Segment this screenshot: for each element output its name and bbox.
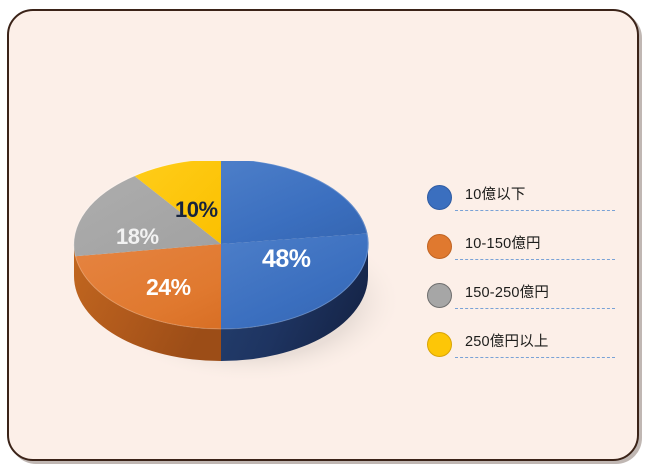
chart-legend: 10億以下 10-150億円 150-250億円 250億円以上: [427, 179, 617, 375]
chart-card: 48% 24% 18% 10% 10億以下 10-150億円 150-250億円: [7, 9, 639, 461]
chart-canvas: 48% 24% 18% 10% 10億以下 10-150億円 150-250億円: [0, 0, 650, 473]
pie-label-24: 24%: [146, 274, 191, 301]
legend-label-3: 250億円以上: [465, 330, 549, 351]
legend-item-1[interactable]: 10-150億円: [427, 228, 617, 277]
legend-label-1: 10-150億円: [465, 232, 541, 253]
legend-swatch-icon-2: [427, 283, 452, 308]
legend-rule-3: [455, 357, 615, 358]
legend-item-3[interactable]: 250億円以上: [427, 326, 617, 375]
legend-item-0[interactable]: 10億以下: [427, 179, 617, 228]
legend-item-2[interactable]: 150-250億円: [427, 277, 617, 326]
legend-rule-1: [455, 259, 615, 260]
legend-label-2: 150-250億円: [465, 281, 549, 302]
pie-label-10: 10%: [175, 197, 218, 223]
legend-label-0: 10億以下: [465, 183, 526, 204]
legend-rule-0: [455, 210, 615, 211]
legend-swatch-icon-3: [427, 332, 452, 357]
legend-swatch-icon-0: [427, 185, 452, 210]
pie-label-48: 48%: [262, 245, 311, 274]
pie-chart: 48% 24% 18% 10%: [39, 161, 419, 411]
legend-rule-2: [455, 308, 615, 309]
legend-swatch-icon-1: [427, 234, 452, 259]
pie-label-18: 18%: [116, 224, 159, 250]
